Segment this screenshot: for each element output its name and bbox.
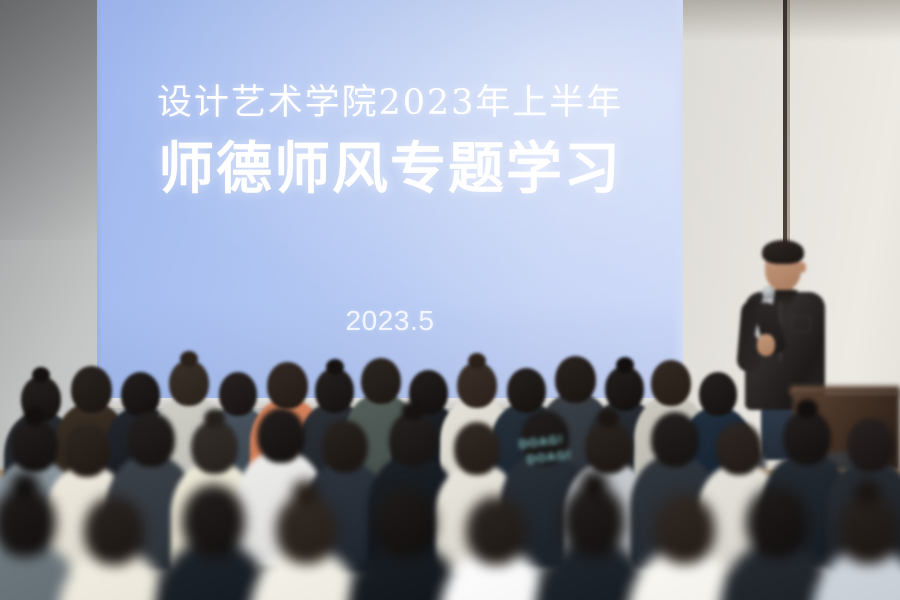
audience-person-hair-bun — [580, 470, 608, 495]
audience-person-head — [783, 410, 831, 465]
audience-person-head — [64, 424, 110, 477]
audience-person — [168, 484, 260, 600]
audience-person — [262, 494, 350, 600]
audience-person-hair-bun — [616, 357, 634, 373]
audience-person-head — [182, 484, 245, 557]
audience-person — [0, 486, 70, 600]
audience-person — [360, 486, 450, 600]
audience-person-head — [555, 356, 596, 403]
audience-person-head — [276, 494, 337, 564]
audience-person-head — [389, 412, 437, 467]
photograph: 设计艺术学院2023年上半年 师德师风专题学习 2023.5 DOAG! DOA… — [0, 0, 900, 600]
audience-person-head — [847, 418, 894, 472]
audience-person-hair-bun — [796, 399, 818, 418]
audience-person-hair-bun — [468, 353, 486, 369]
audience-person-head — [374, 486, 436, 558]
slide-subtitle: 设计艺术学院2023年上半年 — [97, 82, 683, 124]
ceiling-shadow — [680, 0, 900, 42]
audience-person-head — [654, 494, 715, 564]
audience-person — [70, 496, 157, 600]
audience-person — [732, 486, 822, 600]
audience-person-head — [466, 496, 526, 565]
audience-person-hair-bun — [854, 480, 881, 504]
audience-person-hair-bun — [204, 409, 225, 428]
audience-person-head — [121, 372, 160, 417]
audience-person — [640, 494, 728, 600]
slide-date: 2023.5 — [97, 305, 683, 337]
audience-person-hair-bun — [24, 407, 45, 426]
presenter-ear — [799, 262, 806, 273]
audience-person-head — [11, 418, 58, 472]
audience-person-head — [716, 422, 762, 475]
audience-person-hair-bun — [402, 401, 424, 420]
audience-person-hair-bun — [11, 472, 39, 497]
slide-title: 师德师风专题学习 — [97, 138, 683, 202]
audience-person-head — [838, 494, 899, 564]
audience-person-head — [699, 372, 737, 416]
audience-person-head — [322, 420, 368, 473]
audience-person — [452, 496, 539, 600]
audience-person-head — [257, 408, 305, 463]
audience-person-head — [71, 366, 112, 413]
audience-person-head — [267, 362, 308, 409]
presenter-shirt-pocket — [791, 316, 811, 332]
left-wall-shadow — [0, 0, 100, 240]
audience-person-head — [191, 420, 238, 474]
audience-person-head — [361, 358, 401, 404]
audience-person-head — [651, 412, 699, 467]
audience-person — [824, 494, 900, 600]
audience-person-head — [507, 368, 546, 413]
audience-person-hair-bun — [32, 367, 50, 383]
audience-person-head — [746, 486, 808, 558]
audience-person-head — [454, 422, 500, 475]
audience-person-head — [84, 496, 144, 565]
audience-person-hair-bun — [180, 351, 198, 367]
audience-person-head — [651, 360, 691, 406]
audience-person — [548, 484, 640, 600]
audience-person-hair-bun — [326, 359, 344, 375]
audience-person-head — [127, 412, 175, 467]
audience-person-hair-bun — [598, 409, 619, 428]
presenter-hand — [757, 334, 775, 356]
presenter-hair — [762, 240, 804, 264]
audience-person-hair-bun — [292, 480, 319, 504]
